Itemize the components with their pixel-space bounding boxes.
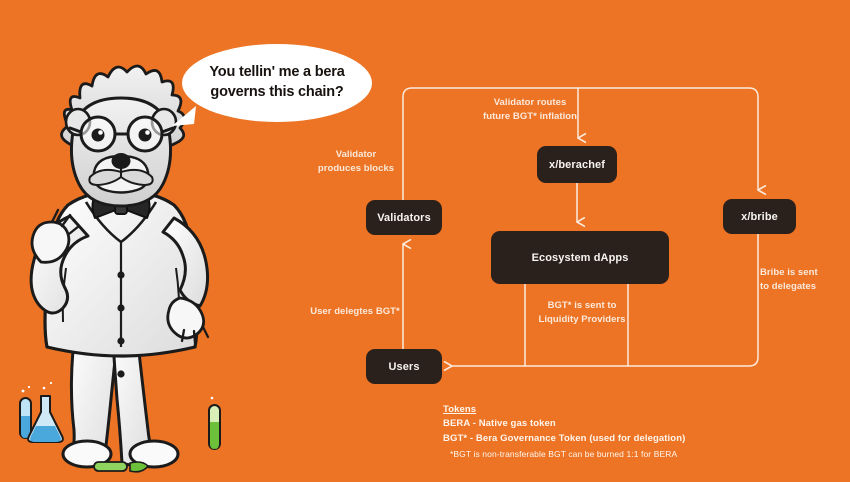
edge-label-validator-routes: Validator routes future BGT* inflation (470, 96, 590, 124)
edge-label-validator-produces: Validator produces blocks (310, 148, 402, 176)
node-validators[interactable]: Validators (366, 200, 442, 235)
speech-bubble: You tellin' me a bera governs this chain… (182, 44, 372, 122)
blue-flask (28, 382, 63, 442)
node-bribe-label: x/bribe (741, 211, 778, 223)
node-dapps-label: Ecosystem dApps (532, 252, 629, 264)
legend-footnote: *BGT is non-transferable BGT can be burn… (450, 449, 685, 459)
speech-bubble-text: You tellin' me a bera governs this chain… (182, 63, 372, 102)
node-users-label: Users (388, 361, 419, 373)
speech-bubble-tail (170, 104, 196, 128)
node-bribe[interactable]: x/bribe (723, 199, 796, 234)
edge-label-user-delegates: User delegtes BGT* (300, 305, 410, 319)
node-berachef[interactable]: x/berachef (537, 146, 617, 183)
infographic-canvas: You tellin' me a bera governs this chain… (0, 0, 850, 482)
edge-label-bribe-to-delegates: Bribe is sent to delegates (760, 266, 844, 294)
mascot-head (62, 66, 185, 206)
blue-test-tube (20, 386, 31, 438)
edge-label-bgt-to-lps: BGT* is sent to Liquidity Providers (528, 299, 636, 327)
node-ecosystem-dapps[interactable]: Ecosystem dApps (491, 231, 669, 284)
legend-title: Tokens (443, 404, 685, 415)
node-users[interactable]: Users (366, 349, 442, 384)
node-validators-label: Validators (377, 212, 431, 224)
spilled-green-test-tube (94, 462, 148, 472)
node-berachef-label: x/berachef (549, 159, 605, 171)
tokens-legend: Tokens BERA - Native gas token BGT* - Be… (443, 404, 685, 459)
green-test-tube (209, 397, 220, 449)
legend-line-bgt: BGT* - Bera Governance Token (used for d… (443, 432, 685, 447)
legend-line-bera: BERA - Native gas token (443, 417, 685, 432)
